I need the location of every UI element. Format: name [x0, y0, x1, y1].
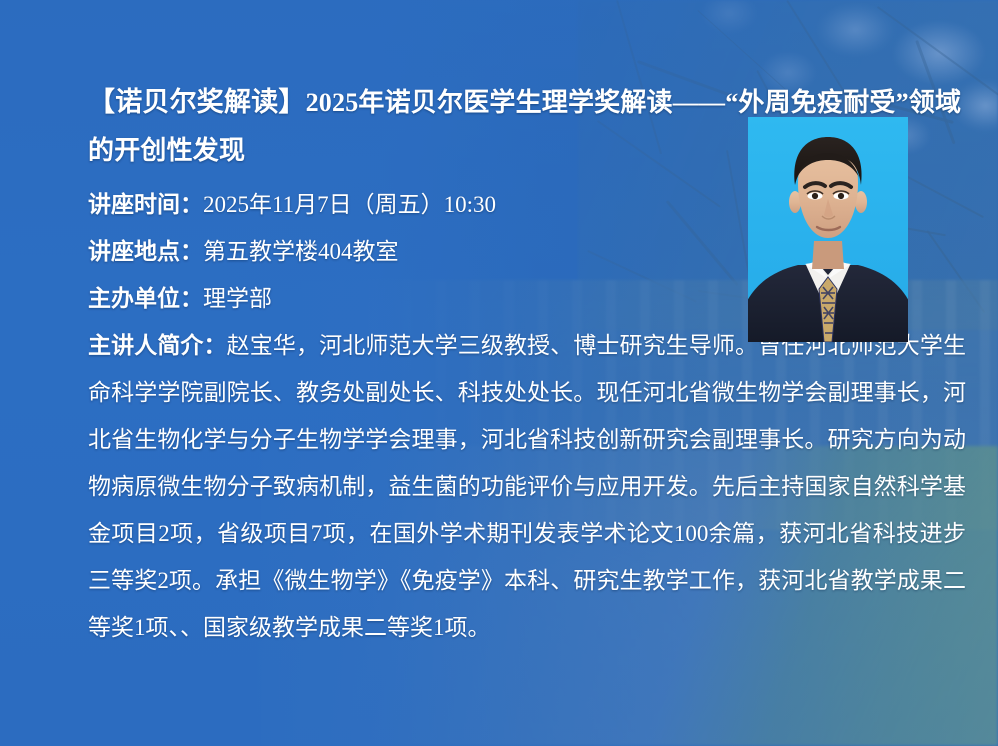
speaker-portrait-photo — [748, 117, 908, 342]
lecture-place-label: 讲座地点： — [88, 239, 203, 264]
lecture-time-label: 讲座时间： — [88, 192, 203, 217]
lecture-organizer-value: 理学部 — [203, 286, 272, 311]
speaker-bio-text: 赵宝华，河北师范大学三级教授、博士研究生导师。曾任河北师范大学生命科学学院副院长… — [88, 333, 966, 640]
speaker-bio: 主讲人简介：赵宝华，河北师范大学三级教授、博士研究生导师。曾任河北师范大学生命科… — [88, 322, 966, 651]
lecture-place-value: 第五教学楼404教室 — [203, 239, 399, 264]
speaker-bio-label: 主讲人简介： — [88, 333, 227, 358]
lecture-poster: 【诺贝尔奖解读】2025年诺贝尔医学生理学奖解读——“外周免疫耐受”领域的开创性… — [0, 0, 998, 746]
page-title-bracket: 【诺贝尔奖解读】 — [88, 87, 306, 117]
lecture-organizer-label: 主办单位： — [88, 286, 203, 311]
portrait-illustration — [748, 117, 908, 342]
lecture-time-value: 2025年11月7日（周五）10:30 — [203, 192, 496, 217]
